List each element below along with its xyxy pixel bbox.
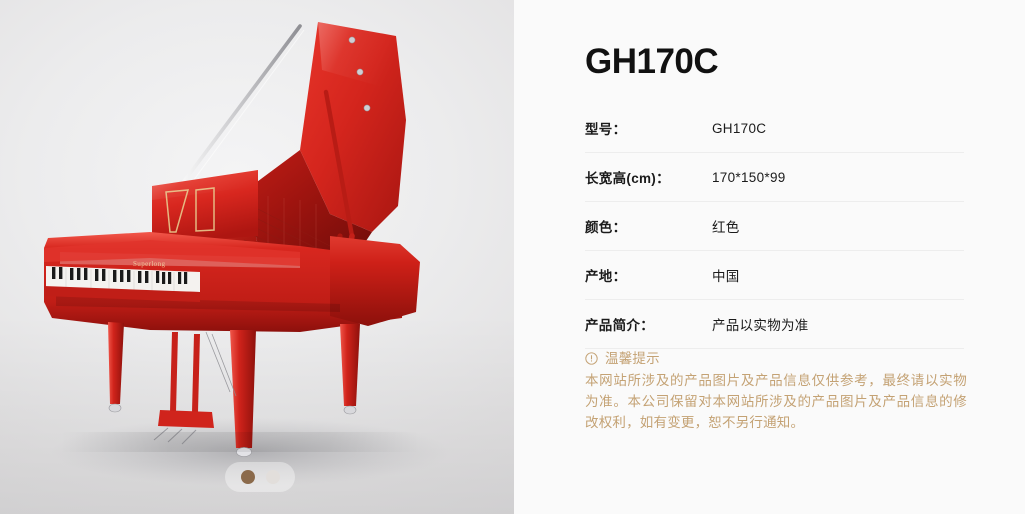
table-row: 型号： GH170C	[585, 104, 964, 152]
gallery-dot-1[interactable]	[241, 470, 255, 484]
svg-text:Superlong: Superlong	[133, 260, 165, 268]
product-spec-table: 型号： GH170C 长宽高(cm)： 170*150*99 颜色： 红色 产地…	[585, 104, 964, 349]
spec-label-color: 颜色：	[585, 216, 712, 236]
product-image-gallery[interactable]: Superlong	[0, 0, 514, 514]
piano-leg-front-left	[108, 322, 124, 404]
product-image-grand-piano[interactable]: Superlong	[0, 0, 514, 514]
spec-label-description: 产品简介：	[585, 314, 712, 334]
spec-value-color: 红色	[712, 216, 740, 236]
page-title: GH170C	[585, 44, 718, 79]
disclaimer-notice: 温馨提示 本网站所涉及的产品图片及产品信息仅供参考，最终请以实物为准。本公司保留…	[585, 348, 967, 433]
gallery-dot-2[interactable]	[266, 470, 280, 484]
spec-label-dimensions: 长宽高(cm)：	[585, 167, 712, 187]
spec-value-origin: 中国	[712, 265, 740, 285]
gallery-pagination-dots[interactable]	[225, 462, 295, 492]
product-detail-page: Superlong	[0, 0, 1025, 514]
spec-label-model: 型号：	[585, 118, 712, 138]
spec-value-dimensions: 170*150*99	[712, 170, 786, 185]
notice-body: 本网站所涉及的产品图片及产品信息仅供参考，最终请以实物为准。本公司保留对本网站所…	[585, 370, 967, 433]
warning-circle-icon	[585, 352, 598, 365]
notice-heading-row: 温馨提示	[585, 348, 967, 369]
notice-heading: 温馨提示	[605, 348, 660, 369]
table-row: 颜色： 红色	[585, 201, 964, 250]
spec-value-description: 产品以实物为准	[712, 314, 809, 334]
piano-leg-rear	[340, 324, 360, 406]
table-row: 长宽高(cm)： 170*150*99	[585, 152, 964, 201]
table-row: 产品简介： 产品以实物为准	[585, 299, 964, 349]
spec-value-model: GH170C	[712, 121, 766, 136]
product-info-panel: GH170C 型号： GH170C 长宽高(cm)： 170*150*99 颜色…	[514, 0, 1025, 514]
spec-label-origin: 产地：	[585, 265, 712, 285]
table-row: 产地： 中国	[585, 250, 964, 299]
